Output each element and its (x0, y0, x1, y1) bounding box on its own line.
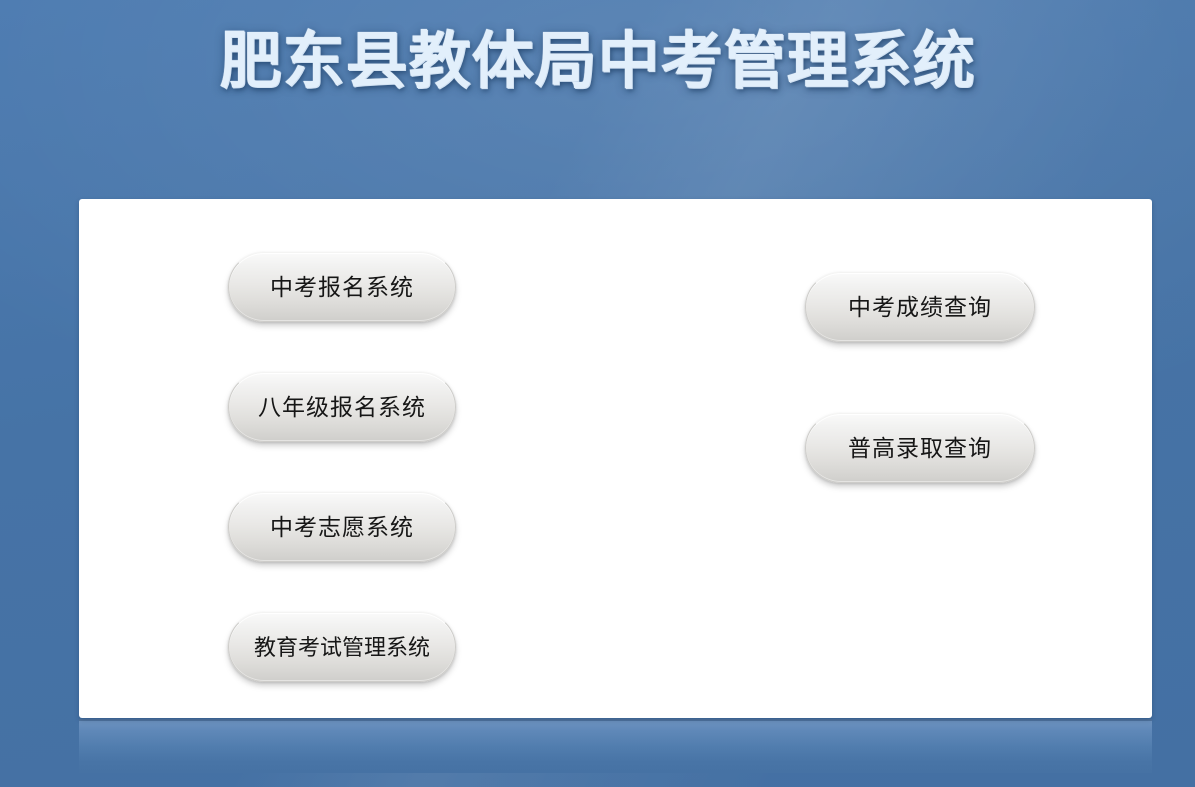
button-banianji-baoming-xitong[interactable]: 八年级报名系统 (228, 372, 456, 442)
button-label: 中考志愿系统 (270, 516, 414, 539)
button-label: 教育考试管理系统 (254, 636, 430, 659)
menu-column-right: 中考成绩查询 普高录取查询 (805, 272, 1035, 483)
page-title-text: 肥东县教体局中考管理系统 (219, 26, 975, 98)
button-label: 普高录取查询 (848, 437, 992, 460)
footer-band (79, 719, 1152, 773)
button-zhongkao-zhiyuan-xitong[interactable]: 中考志愿系统 (228, 492, 456, 562)
button-zhongkao-chengji-chaxun[interactable]: 中考成绩查询 (805, 272, 1035, 342)
button-jiaoyu-kaoshi-guanli-xitong[interactable]: 教育考试管理系统 (228, 612, 456, 682)
app-background: 肥东县教体局中考管理系统 中考报名系统 八年级报名系统 中考志愿系统 教育考试管… (0, 0, 1195, 787)
button-label: 八年级报名系统 (258, 396, 426, 419)
button-label: 中考成绩查询 (848, 296, 992, 319)
menu-column-left: 中考报名系统 八年级报名系统 中考志愿系统 教育考试管理系统 (228, 252, 456, 682)
button-label: 中考报名系统 (270, 276, 414, 299)
button-zhongkao-baoming-xitong[interactable]: 中考报名系统 (228, 252, 456, 322)
page-title: 肥东县教体局中考管理系统 (0, 14, 1195, 110)
button-pugao-luqu-chaxun[interactable]: 普高录取查询 (805, 413, 1035, 483)
